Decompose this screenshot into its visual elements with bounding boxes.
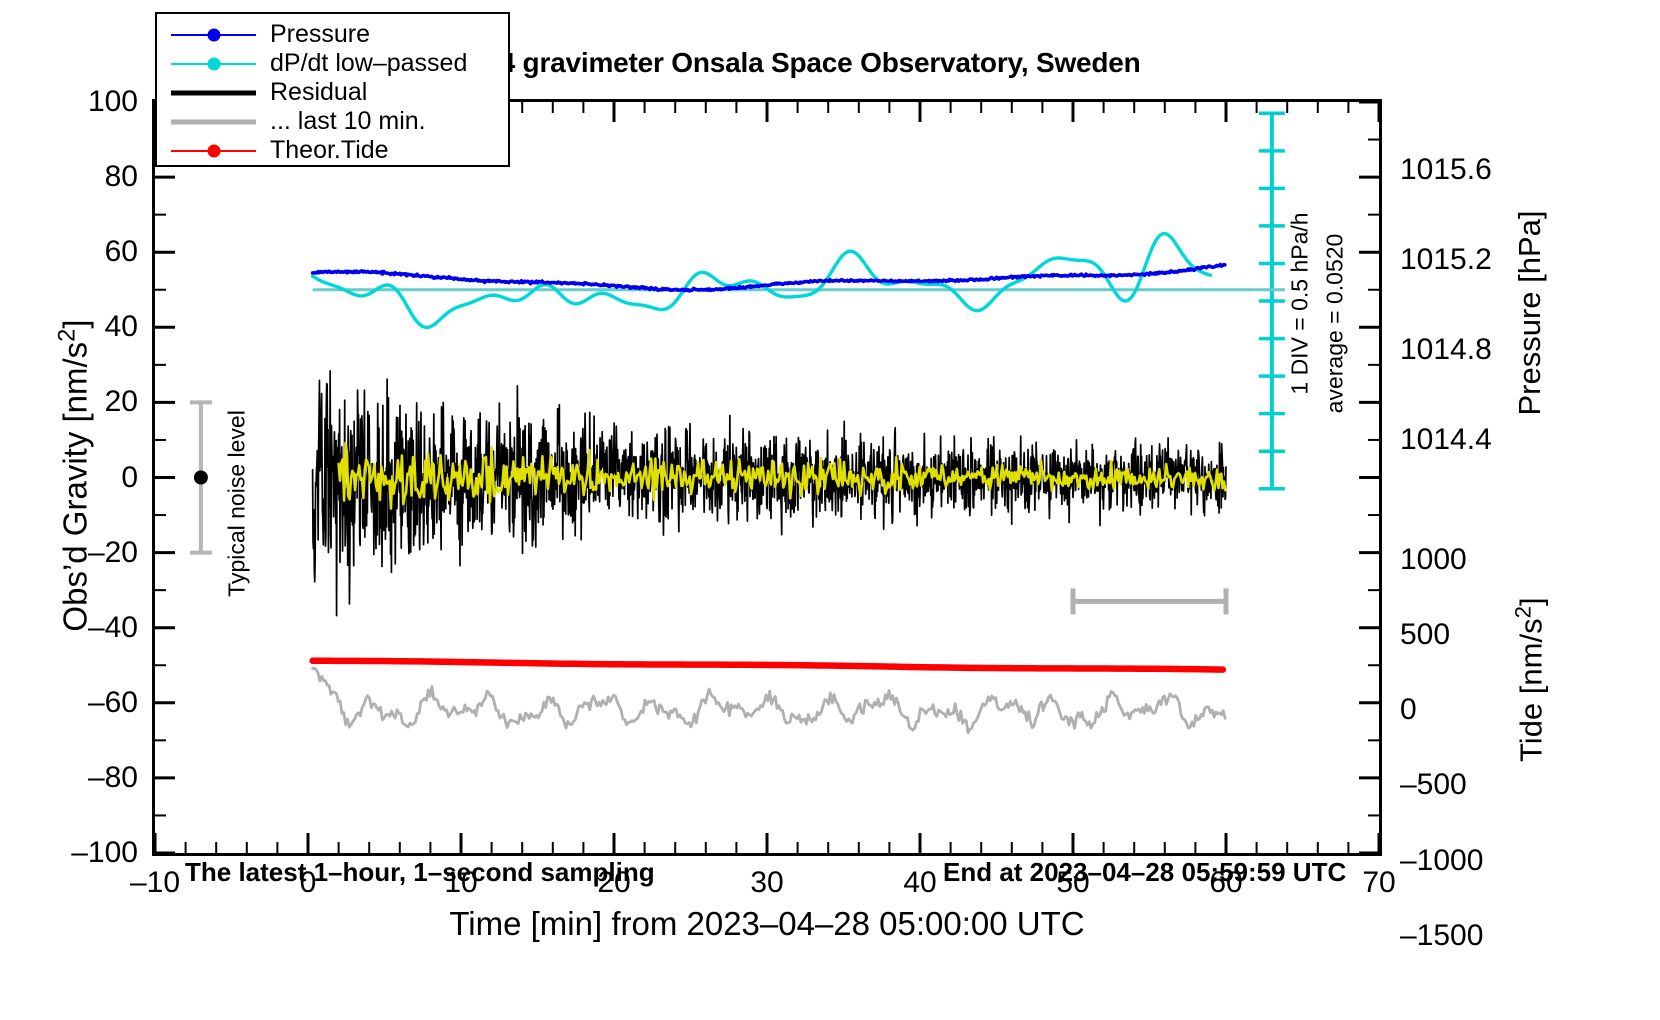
noise-center-dot (194, 471, 208, 485)
y-tick-label-left: 40 (2, 310, 138, 344)
legend-swatch-icon (171, 111, 256, 133)
footer-left-note: The latest 1–hour, 1–second sampling (185, 857, 655, 888)
chart-root: SCG_054 gravimeter Onsala Space Observat… (0, 0, 1660, 1020)
y-tick-label-left: –60 (2, 686, 138, 720)
y-tick-label-pressure: 1014.8 (1400, 333, 1492, 367)
y-axis-label-tide: Tide [nm/s2] (1510, 415, 1549, 945)
y-tick-label-tide: 500 (1400, 618, 1450, 652)
series-pressure (313, 265, 1225, 291)
y-tick-label-tide: 1000 (1400, 543, 1467, 577)
y-tick-label-tide: –500 (1400, 768, 1467, 802)
legend-swatch-icon (171, 53, 256, 75)
y-tick-label-pressure: 1015.2 (1400, 243, 1492, 277)
legend-item[interactable]: dP/dt low–passed (157, 49, 508, 78)
legend-swatch-icon (171, 82, 256, 104)
x-tick-label: 30 (750, 866, 783, 900)
legend-item[interactable]: Residual (157, 78, 508, 107)
plot-canvas (155, 102, 1379, 853)
y-tick-label-left: –80 (2, 761, 138, 795)
y-tick-label-left: –40 (2, 611, 138, 645)
legend-item[interactable]: Theor.Tide (157, 136, 508, 165)
legend-item-label: dP/dt low–passed (270, 51, 467, 76)
x-tick-label: 40 (903, 866, 936, 900)
plot-area (155, 102, 1379, 853)
legend-swatch-icon (171, 24, 256, 46)
y-tick-label-pressure: 1014.4 (1400, 423, 1492, 457)
series-last-10-min (313, 668, 1225, 733)
series-dpdt-lowpassed (313, 234, 1211, 328)
legend-item-label: Pressure (270, 22, 370, 47)
noise-level-label: Typical noise level (224, 404, 251, 604)
y-tick-label-left: 100 (2, 85, 138, 119)
y-tick-label-tide: –1000 (1400, 844, 1483, 878)
legend-item-label: ... last 10 min. (270, 109, 426, 134)
legend-swatch-icon (171, 140, 256, 162)
y-tick-label-pressure: 1015.6 (1400, 153, 1492, 187)
legend-item-label: Residual (270, 80, 367, 105)
y-tick-label-tide: –1500 (1400, 919, 1483, 953)
legend-item[interactable]: ... last 10 min. (157, 107, 508, 136)
plot-frame (152, 99, 1382, 856)
legend-item-label: Theor.Tide (270, 138, 389, 163)
legend-item[interactable]: Pressure (157, 20, 508, 49)
x-axis-label: Time [min] from 2023–04–28 05:00:00 UTC (152, 905, 1382, 943)
legend: PressuredP/dt low–passedResidual... last… (155, 12, 510, 167)
y-tick-label-left: 60 (2, 235, 138, 269)
x-tick-label: 70 (1362, 866, 1395, 900)
y-tick-label-tide: 0 (1400, 693, 1417, 727)
y-tick-label-left: 20 (2, 385, 138, 419)
average-label: average = 0.0520 (1322, 224, 1349, 424)
y-tick-label-left: 0 (2, 461, 138, 495)
y-tick-label-left: –100 (2, 836, 138, 870)
series-theor-tide (313, 661, 1223, 670)
x-tick-label: –10 (130, 866, 180, 900)
y-tick-label-left: –20 (2, 536, 138, 570)
div-scale-label: 1 DIV = 0.5 hPa/h (1287, 204, 1314, 404)
y-tick-label-left: 80 (2, 160, 138, 194)
footer-right-note: End at 2023–04–28 05:59:59 UTC (943, 857, 1346, 888)
